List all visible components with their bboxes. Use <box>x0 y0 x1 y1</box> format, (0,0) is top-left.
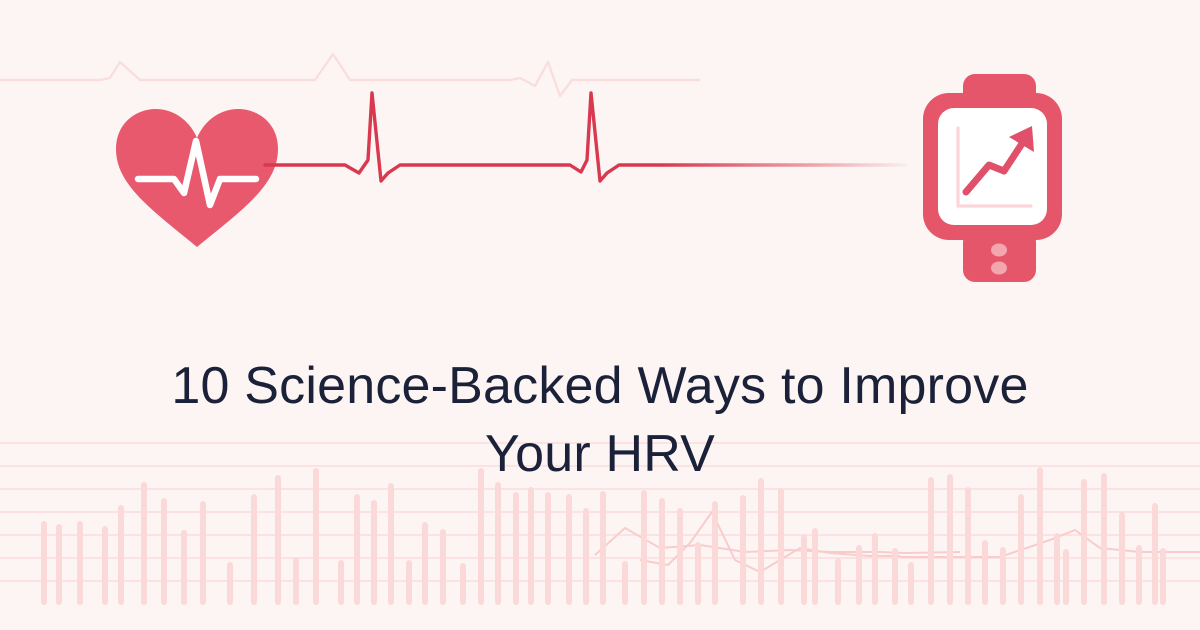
page-title: 10 Science-Backed Ways to Improve Your H… <box>0 352 1200 488</box>
hero-icon-row <box>0 60 1200 300</box>
smartwatch-trend-icon <box>905 70 1080 285</box>
hrv-hero-banner: 10 Science-Backed Ways to Improve Your H… <box>0 0 1200 630</box>
watch-side-dots-icon <box>991 244 1007 257</box>
page-title-line-2: Your HRV <box>0 420 1200 488</box>
page-title-line-1: 10 Science-Backed Ways to Improve <box>0 352 1200 420</box>
ecg-waveform-icon <box>255 80 915 200</box>
background-ecg-bottom <box>595 512 1200 572</box>
